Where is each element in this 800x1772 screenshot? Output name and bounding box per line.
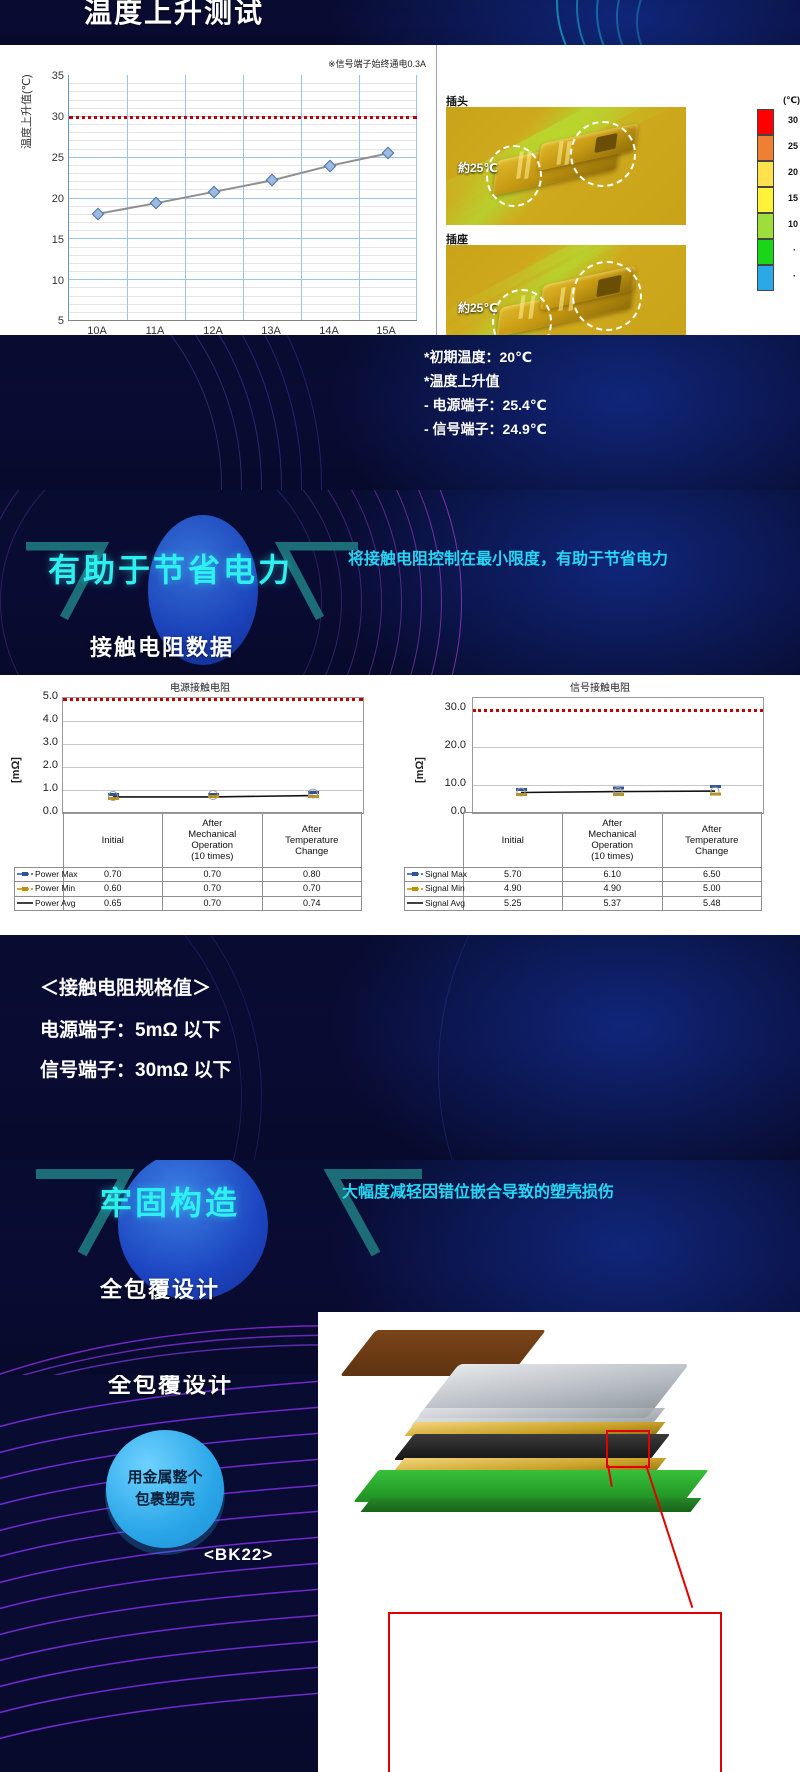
column-header: After Temperature Change: [662, 813, 762, 868]
connector-3d-render: [318, 1312, 800, 1772]
spec-heading: ＜接触电阻规格值＞: [40, 971, 211, 1007]
legend-label: Signal Min: [425, 883, 465, 893]
chart-title: 信号接触电阻: [400, 679, 800, 694]
legend-marker-min-icon: [407, 884, 423, 895]
column-header: Initial: [63, 813, 163, 868]
column-header: Initial: [463, 813, 563, 868]
spec-line-signal: 信号端子：30mΩ 以下: [40, 1053, 232, 1089]
series-polyline: [63, 698, 363, 813]
contact-resistance-section-title: 接触电阻数据: [90, 630, 234, 662]
table-row: Signal Avg 5.25 5.37 5.48: [405, 896, 762, 910]
scale-label: 30: [788, 115, 798, 125]
temperature-scale: [757, 109, 774, 291]
series-polyline: [473, 698, 763, 813]
table-row: Signal Min 4.90 4.90 5.00: [405, 882, 762, 896]
scale-label: 20: [788, 167, 798, 177]
y-axis-label: 温度上升值(℃): [18, 74, 34, 149]
cell: 4.90: [463, 882, 563, 896]
legend-marker-min-icon: [17, 884, 33, 895]
scale-label: ·: [793, 245, 796, 255]
legend-cell: Power Min: [15, 882, 64, 896]
y-tick: 10: [36, 275, 64, 287]
cell: 4.90: [563, 882, 663, 896]
cell: 0.60: [63, 882, 163, 896]
column-header: After Mechanical Operation (10 times): [563, 813, 663, 868]
y-tick: 10.0: [424, 777, 466, 789]
note-line: *初期温度：20℃: [424, 345, 547, 369]
cell: 6.10: [563, 868, 663, 882]
y-tick: 4.0: [24, 713, 58, 725]
cell: 0.74: [262, 896, 362, 910]
table-row: Signal Max 5.70 6.10 6.50: [405, 868, 762, 882]
badge-line: 用金属整个: [127, 1467, 202, 1489]
temperature-rise-chart: ※信号端子始终通电0.3A 温度上升值(℃) 35 30 25 20 15 10…: [16, 53, 436, 333]
plot-area: [472, 697, 764, 814]
chart-note: ※信号端子始终通电0.3A: [328, 57, 426, 70]
cell: 5.25: [463, 896, 563, 910]
note-line: - 电源端子：25.4℃: [424, 393, 547, 417]
signal-resistance-table: Initial After Mechanical Operation (10 t…: [404, 812, 762, 911]
legend-marker-avg-icon: [407, 898, 423, 909]
spec-line-power: 电源端子：5mΩ 以下: [40, 1013, 221, 1049]
model-label: <BK22>: [204, 1545, 273, 1565]
y-tick: 1.0: [24, 782, 58, 794]
series-polyline: [69, 75, 417, 320]
y-axis-label: [mΩ]: [10, 757, 22, 783]
cell: 0.70: [262, 882, 362, 896]
cell: 5.48: [662, 896, 762, 910]
y-tick: 35: [36, 70, 64, 82]
scale-label: 10: [788, 219, 798, 229]
power-contact-resistance-chart: 电源接触电阻 [mΩ]: [0, 675, 400, 935]
legend-marker-max-icon: [407, 869, 423, 880]
strong-structure-subline: 大幅度减轻因错位嵌合导致的塑壳损伤: [342, 1180, 702, 1206]
legend-cell: Signal Min: [405, 882, 464, 896]
y-tick: 3.0: [24, 736, 58, 748]
temperature-notes-band: *初期温度：20℃ *温度上升值 - 电源端子：25.4℃ - 信号端子：24.…: [0, 335, 800, 490]
signal-contact-resistance-chart: 信号接触电阻 [mΩ]: [400, 675, 800, 935]
y-tick: 30: [36, 111, 64, 123]
metal-wrap-badge: 用金属整个 包裹塑壳: [106, 1430, 224, 1548]
note-line: - 信号端子：24.9℃: [424, 417, 547, 441]
chart-title: 电源接触电阻: [0, 679, 400, 694]
scale-unit: (℃): [783, 95, 800, 106]
scale-label: 15: [788, 193, 798, 203]
pcb-board-side: [361, 1498, 702, 1512]
plot-area: [62, 697, 364, 814]
note-line: *温度上升值: [424, 369, 547, 393]
legend-marker-avg-icon: [17, 898, 33, 909]
detail-view-box: [388, 1612, 722, 1772]
power-resistance-table: Initial After Mechanical Operation (10 t…: [14, 812, 362, 911]
cell: 0.65: [63, 896, 163, 910]
y-tick: 15: [36, 234, 64, 246]
contact-resistance-panel: 电源接触电阻 [mΩ]: [0, 675, 800, 935]
strong-structure-headline: 牢固构造: [100, 1178, 240, 1224]
zoom-highlight-box: [606, 1430, 650, 1468]
legend-label: Power Max: [35, 869, 78, 879]
legend-marker-max-icon: [17, 869, 33, 880]
plug-thermal-image: 約25℃: [446, 107, 686, 225]
socket-temp-label: 約25℃: [458, 299, 498, 316]
y-tick: 2.0: [24, 759, 58, 771]
y-tick: 5.0: [24, 690, 58, 702]
legend-label: Power Avg: [35, 898, 75, 908]
cell: 0.80: [262, 868, 362, 882]
y-tick: 20: [36, 193, 64, 205]
badge-line: 包裹塑壳: [127, 1489, 202, 1511]
legend-cell: Signal Avg: [405, 896, 464, 910]
table-header-row: Initial After Mechanical Operation (10 t…: [405, 813, 762, 868]
legend-cell: Power Avg: [15, 896, 64, 910]
legend-label: Power Min: [35, 883, 75, 893]
cell: 5.37: [563, 896, 663, 910]
cell: 5.00: [662, 882, 762, 896]
column-header: After Temperature Change: [262, 813, 362, 868]
legend-cell: Signal Max: [405, 868, 464, 882]
plug-temp-label: 約25℃: [458, 159, 498, 176]
table-row: Power Min 0.60 0.70 0.70: [15, 882, 362, 896]
y-tick: 30.0: [424, 701, 466, 713]
title-band: 温度上升测试: [0, 0, 800, 45]
cell: 6.50: [662, 868, 762, 882]
legend-label: Signal Avg: [425, 898, 465, 908]
cell: 5.70: [463, 868, 563, 882]
page-title: 温度上升测试: [84, 0, 264, 31]
cell: 0.70: [163, 882, 263, 896]
column-header: After Mechanical Operation (10 times): [163, 813, 263, 868]
y-tick: 5: [36, 315, 64, 327]
temperature-test-panel: ※信号端子始终通电0.3A 温度上升值(℃) 35 30 25 20 15 10…: [0, 45, 800, 335]
product-infographic-page: 温度上升测试 ※信号端子始终通电0.3A 温度上升值(℃) 35 30 25 2…: [0, 0, 800, 1772]
scale-label: 25: [788, 141, 798, 151]
temperature-notes: *初期温度：20℃ *温度上升值 - 电源端子：25.4℃ - 信号端子：24.…: [424, 345, 547, 441]
power-saving-band: 有助于节省电力 将接触电阻控制在最小限度，有助于节省电力 接触电阻数据: [0, 490, 800, 675]
table-row: Power Max 0.70 0.70 0.80: [15, 868, 362, 882]
cell: 0.70: [163, 896, 263, 910]
power-saving-subline: 将接触电阻控制在最小限度，有助于节省电力: [348, 547, 698, 573]
spec-band: ＜接触电阻规格值＞ 电源端子：5mΩ 以下 信号端子：30mΩ 以下: [0, 935, 800, 1160]
table-header-row: Initial After Mechanical Operation (10 t…: [15, 813, 362, 868]
legend-cell: Power Max: [15, 868, 64, 882]
table-row: Power Avg 0.65 0.70 0.74: [15, 896, 362, 910]
full-cover-title: 全包覆设计: [108, 1375, 233, 1399]
legend-label: Signal Max: [425, 869, 467, 879]
cell: 0.70: [163, 868, 263, 882]
plot-area: [68, 75, 417, 321]
power-saving-headline: 有助于节省电力: [48, 545, 293, 591]
y-tick: 25: [36, 152, 64, 164]
y-tick: 20.0: [424, 739, 466, 751]
scale-label: ·: [793, 271, 796, 281]
